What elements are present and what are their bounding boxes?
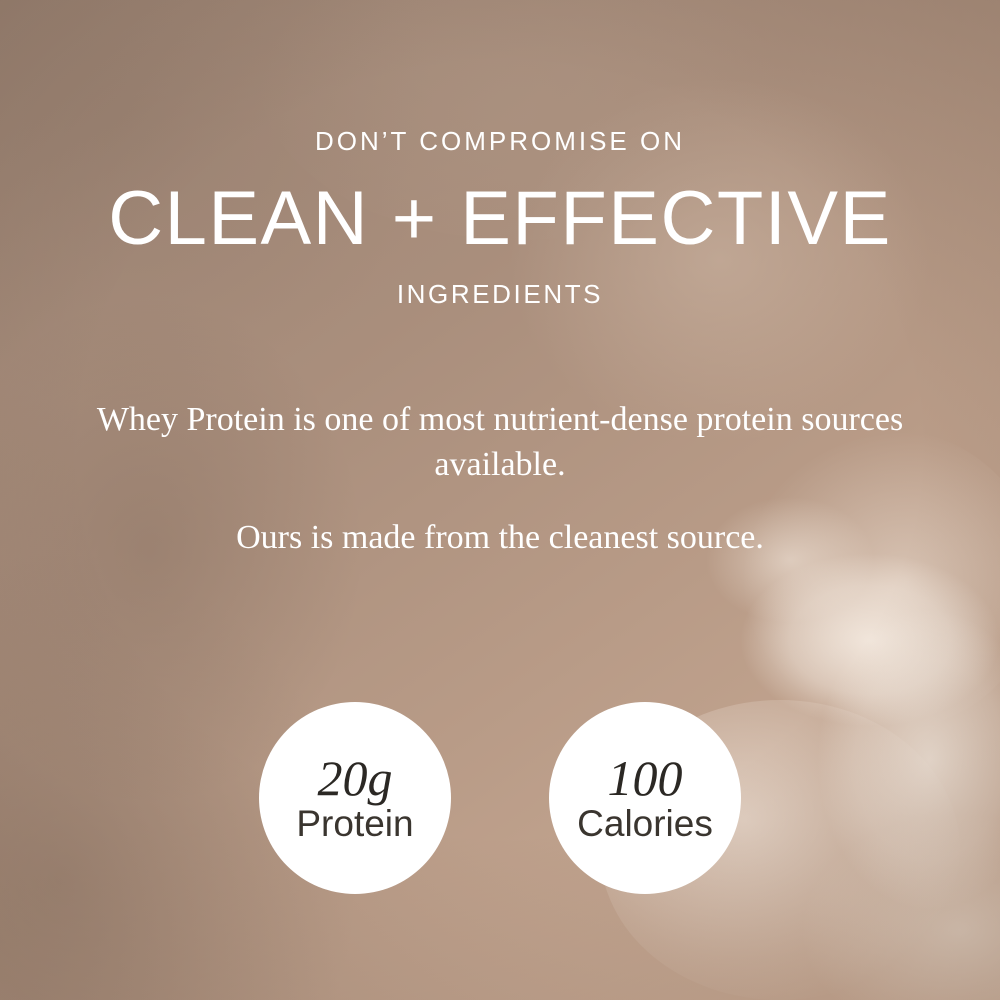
subline-text: INGREDIENTS: [0, 281, 1000, 307]
promo-content: DON’T COMPROMISE ON CLEAN + EFFECTIVE IN…: [0, 0, 1000, 1000]
promo-image-canvas: DON’T COMPROMISE ON CLEAN + EFFECTIVE IN…: [0, 0, 1000, 1000]
nutrition-badges: 20g Protein 100 Calories: [0, 702, 1000, 894]
body-paragraph-2: Ours is made from the cleanest source.: [60, 516, 940, 561]
badge-label-calories: Calories: [577, 805, 713, 844]
eyebrow-text: DON’T COMPROMISE ON: [0, 128, 1000, 154]
nutrition-badge-protein: 20g Protein: [259, 702, 451, 894]
badge-label-protein: Protein: [296, 805, 413, 844]
badge-value-protein: 20g: [318, 753, 393, 803]
badge-value-calories: 100: [608, 753, 683, 803]
body-copy: Whey Protein is one of most nutrient-den…: [60, 398, 940, 561]
nutrition-badge-calories: 100 Calories: [549, 702, 741, 894]
body-paragraph-1: Whey Protein is one of most nutrient-den…: [60, 398, 940, 488]
headline-text: CLEAN + EFFECTIVE: [0, 179, 1000, 259]
